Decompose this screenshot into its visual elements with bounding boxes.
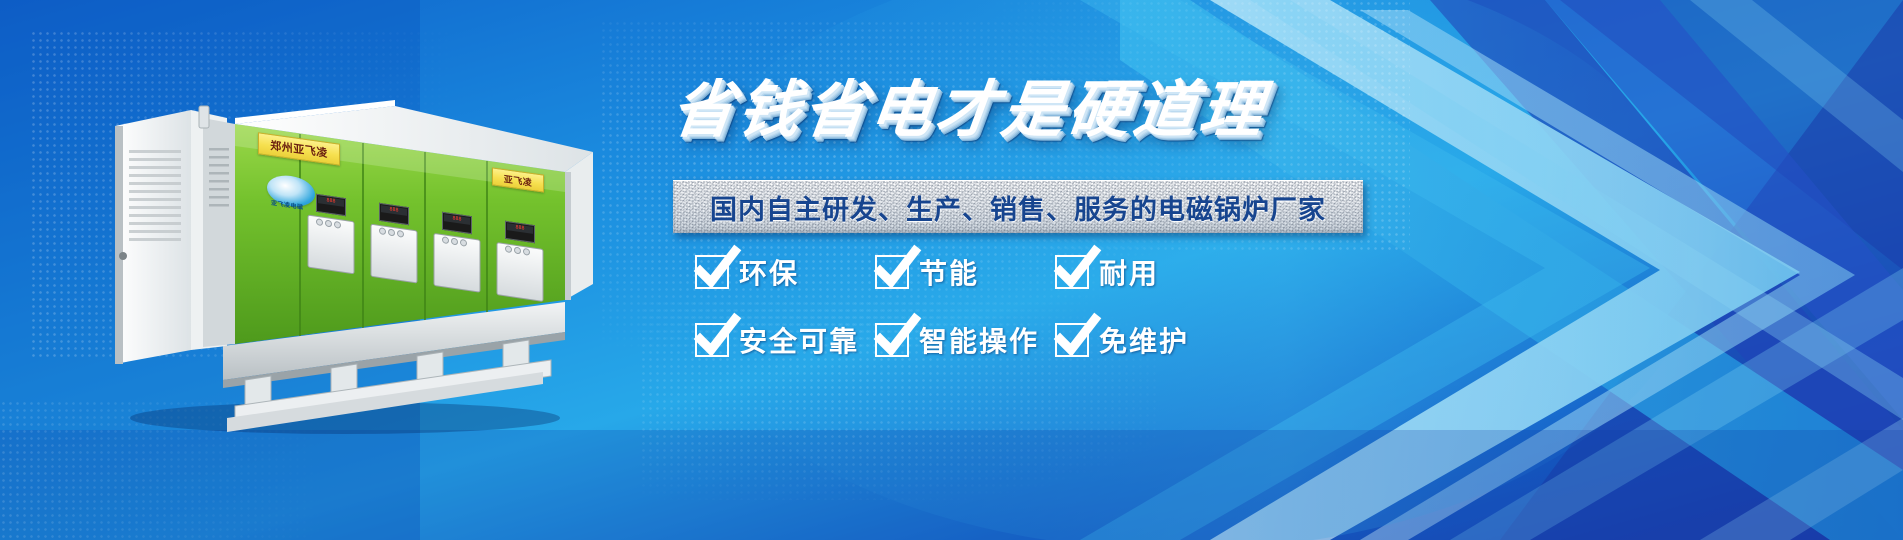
control-button <box>460 239 467 247</box>
check-icon <box>695 255 729 289</box>
gauge-reading: 888 <box>318 196 344 207</box>
gauge-reading: 888 <box>507 223 533 234</box>
control-button <box>442 236 449 244</box>
control-button <box>505 245 512 253</box>
control-button <box>334 221 341 229</box>
feature-item: 免维护 <box>1055 320 1189 360</box>
feature-row-1: 环保 节能 耐用 <box>695 252 1159 292</box>
feature-row-2: 安全可靠 智能操作 免维护 <box>695 320 1189 360</box>
feature-item: 安全可靠 <box>695 320 859 360</box>
product-image-electromagnetic-boiler: 郑州亚飞凌 亚飞凌 亚飞凌电磁 888 888 888 888 <box>95 88 615 438</box>
feature-label: 免维护 <box>1099 320 1189 360</box>
control-button <box>397 230 404 238</box>
check-icon <box>875 255 909 289</box>
banner-subtitle: 国内自主研发、生产、销售、服务的电磁锅炉厂家 <box>673 181 1363 233</box>
check-icon <box>1055 323 1089 357</box>
gauge-reading: 888 <box>444 214 470 225</box>
check-icon <box>875 323 909 357</box>
feature-item: 环保 <box>695 252 799 292</box>
check-icon <box>1055 255 1089 289</box>
feature-item: 节能 <box>875 252 979 292</box>
banner-headline: 省钱省电才是硬道理 <box>668 74 1377 146</box>
feature-label: 节能 <box>919 252 979 292</box>
feature-item: 耐用 <box>1055 252 1159 292</box>
subtitle-plaque: 国内自主研发、生产、销售、服务的电磁锅炉厂家 <box>673 180 1363 233</box>
feature-list: 环保 节能 耐用 安全可靠 <box>695 252 1415 382</box>
control-button <box>388 228 395 236</box>
control-button <box>514 246 521 254</box>
control-button <box>451 237 458 245</box>
feature-label: 环保 <box>739 252 799 292</box>
feature-label: 安全可靠 <box>739 320 859 360</box>
check-icon <box>695 323 729 357</box>
brand-plate-right-text: 亚飞凌 <box>504 171 533 188</box>
control-button <box>316 218 323 226</box>
control-button <box>379 227 386 235</box>
promo-banner: 郑州亚飞凌 亚飞凌 亚飞凌电磁 888 888 888 888 <box>0 0 1903 540</box>
control-button <box>325 219 332 227</box>
feature-label: 耐用 <box>1099 252 1159 292</box>
control-button <box>523 248 530 256</box>
feature-item: 智能操作 <box>875 320 1039 360</box>
gauge-reading: 888 <box>381 205 407 216</box>
feature-label: 智能操作 <box>919 320 1039 360</box>
